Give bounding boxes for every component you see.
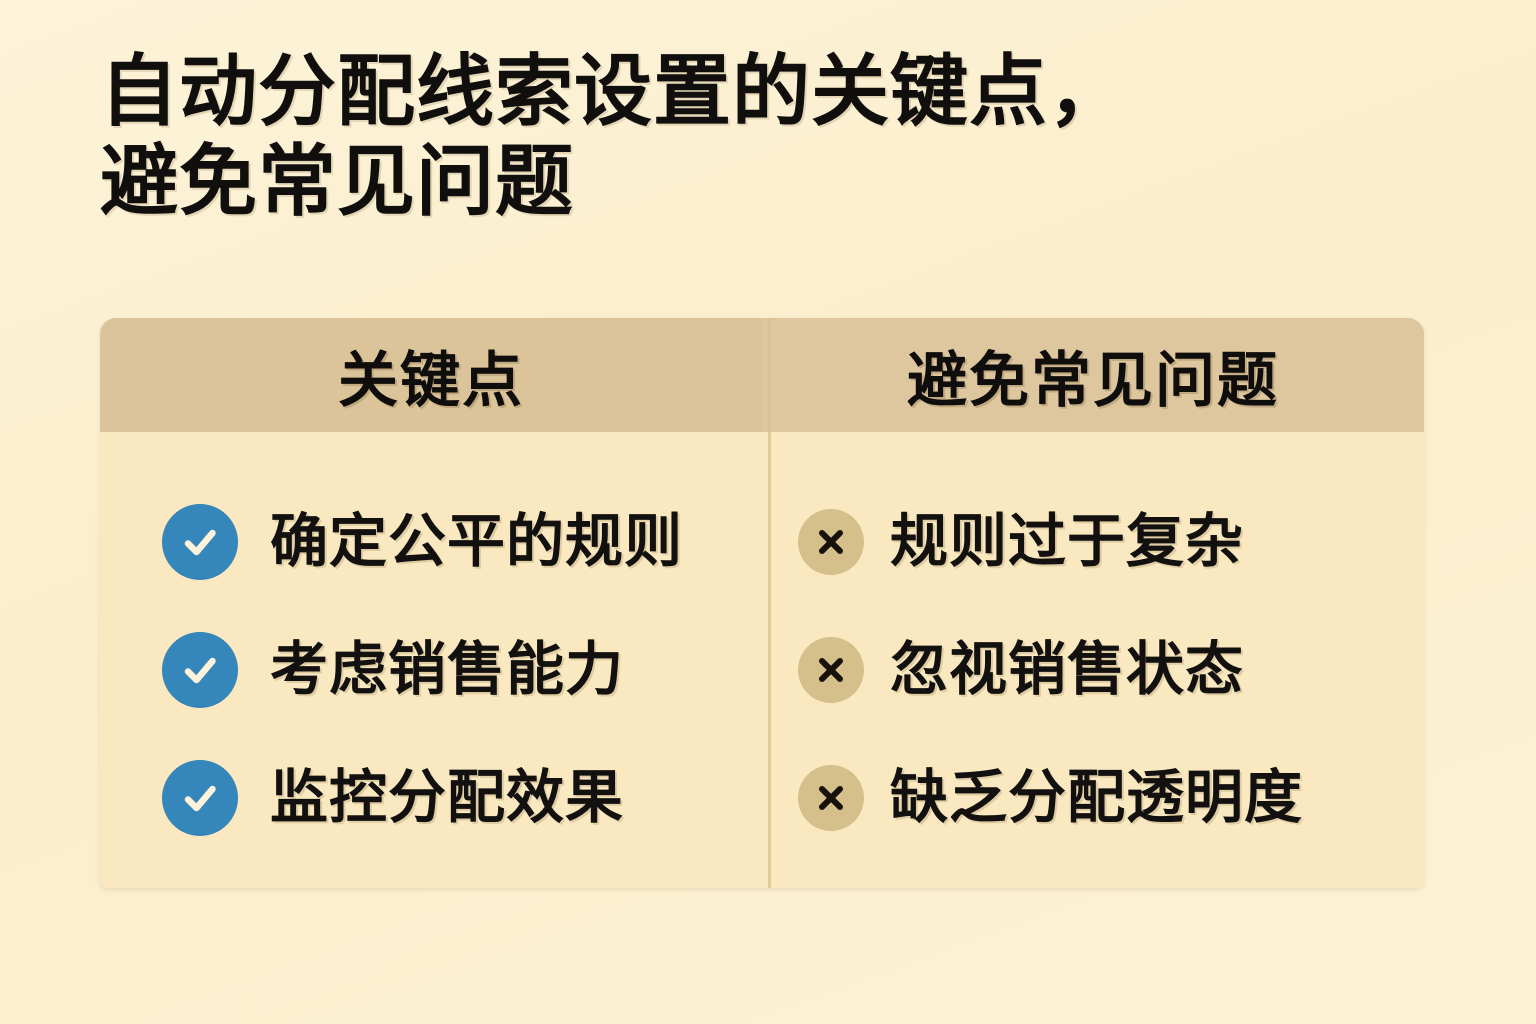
list-item-label: 确定公平的规则: [270, 513, 683, 571]
comparison-grid: 关键点 确定公平的规则: [100, 318, 1424, 888]
list-item: 缺乏分配透明度: [798, 734, 1424, 862]
page-title-line-2: 避免常见问题: [100, 136, 1390, 226]
list-item-label: 缺乏分配透明度: [890, 769, 1303, 827]
column-header-common-problems: 避免常见问题: [762, 318, 1424, 432]
check-icon: [162, 504, 238, 580]
list-item: 监控分配效果: [162, 734, 762, 862]
list-item: 确定公平的规则: [162, 478, 762, 606]
page-title-line-1: 自动分配线索设置的关键点，: [100, 46, 1390, 136]
column-common-problems: 避免常见问题 规则过于复杂: [762, 318, 1424, 888]
list-item: 忽视销售状态: [798, 606, 1424, 734]
list-item-label: 考虑销售能力: [270, 641, 624, 699]
column-body-common-problems: 规则过于复杂 忽视销售状态: [762, 432, 1424, 888]
check-icon: [162, 760, 238, 836]
cross-icon: [798, 637, 864, 703]
column-header-key-points: 关键点: [100, 318, 762, 432]
cross-icon: [798, 765, 864, 831]
list-item: 考虑销售能力: [162, 606, 762, 734]
check-icon: [162, 632, 238, 708]
list-item: 规则过于复杂: [798, 478, 1424, 606]
column-header-label: 关键点: [338, 332, 524, 419]
list-item-label: 忽视销售状态: [890, 641, 1244, 699]
list-item-label: 规则过于复杂: [890, 513, 1244, 571]
cross-icon: [798, 509, 864, 575]
poster-canvas: 自动分配线索设置的关键点， 避免常见问题 关键点 确定公平的规则: [0, 0, 1536, 1024]
comparison-card: 关键点 确定公平的规则: [100, 318, 1424, 888]
column-header-label: 避免常见问题: [907, 332, 1279, 419]
column-body-key-points: 确定公平的规则 考虑销售能力: [100, 432, 762, 888]
column-divider: [768, 318, 771, 888]
page-title: 自动分配线索设置的关键点， 避免常见问题: [100, 46, 1390, 227]
list-item-label: 监控分配效果: [270, 769, 624, 827]
column-key-points: 关键点 确定公平的规则: [100, 318, 762, 888]
